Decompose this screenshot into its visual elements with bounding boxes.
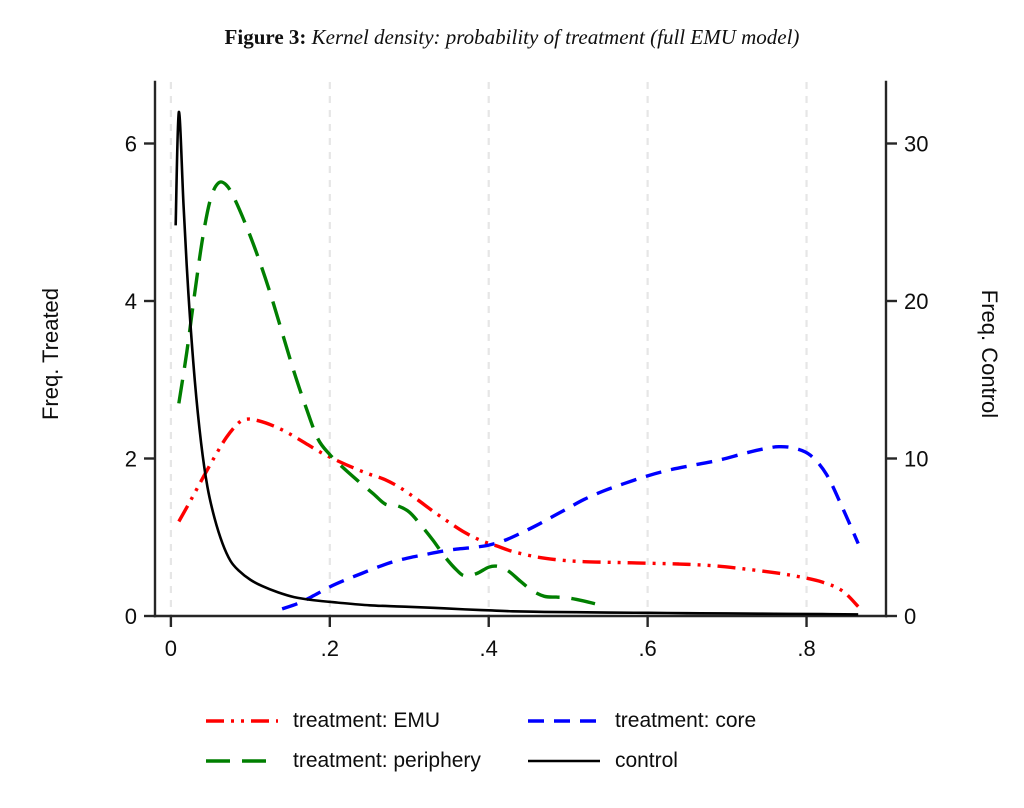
axes-group (144, 82, 897, 627)
figure-caption: Figure 3: Kernel density: probability of… (0, 24, 1024, 50)
legend-swatch-solid-icon (527, 754, 601, 768)
legend-label: treatment: EMU (293, 709, 440, 733)
legend-label: treatment: periphery (293, 749, 481, 773)
y-axis-title-left: Freq. Treated (38, 288, 63, 420)
legend-label: treatment: core (615, 709, 756, 733)
x-tick-label-0: 0 (165, 636, 177, 661)
kernel-density-chart: 024601020300.2.4.6.8Treatment Probabilit… (0, 70, 1024, 670)
legend-item-treatment-emu[interactable]: treatment: EMU (205, 706, 481, 736)
legend-item-treatment-periphery[interactable]: treatment: periphery (205, 746, 481, 776)
legend-item-control[interactable]: control (527, 746, 756, 776)
y-tick-label-right-2: 20 (904, 289, 928, 314)
legend-swatch-dash-icon (527, 714, 601, 728)
axis-labels-group: 024601020300.2.4.6.8Treatment Probabilit… (38, 132, 1002, 671)
x-tick-label-2: .4 (480, 636, 498, 661)
x-tick-label-1: .2 (321, 636, 339, 661)
y-tick-label-left-0: 0 (125, 604, 137, 629)
legend-item-treatment-core[interactable]: treatment: core (527, 706, 756, 736)
series-group (176, 112, 859, 615)
y-tick-label-right-1: 10 (904, 447, 928, 472)
legend-swatch-long-dash-icon (205, 754, 279, 768)
series-line-treatment-periphery (179, 182, 600, 605)
chart-legend: treatment: EMUtreatment: coretreatment: … (0, 700, 1024, 800)
x-tick-label-3: .6 (638, 636, 656, 661)
legend-swatch-dash-dot-dot-icon (205, 714, 279, 728)
y-axis-title-right: Freq. Control (977, 290, 1002, 418)
y-tick-label-left-2: 4 (125, 289, 137, 314)
legend-label: control (615, 749, 678, 773)
figure-container: Figure 3: Kernel density: probability of… (0, 0, 1024, 808)
y-tick-label-left-1: 2 (125, 447, 137, 472)
y-tick-label-left-3: 6 (125, 132, 137, 157)
x-tick-label-4: .8 (797, 636, 815, 661)
series-line-control (176, 112, 859, 615)
y-tick-label-right-0: 0 (904, 604, 916, 629)
figure-caption-label: Figure 3: (225, 25, 307, 49)
series-line-treatment-core (282, 447, 858, 609)
legend-grid: treatment: EMUtreatment: coretreatment: … (205, 706, 756, 776)
figure-caption-text: Kernel density: probability of treatment… (312, 25, 800, 49)
chart-plot-area: 024601020300.2.4.6.8Treatment Probabilit… (0, 70, 1024, 670)
y-tick-label-right-3: 30 (904, 132, 928, 157)
gridlines-group (171, 82, 807, 616)
